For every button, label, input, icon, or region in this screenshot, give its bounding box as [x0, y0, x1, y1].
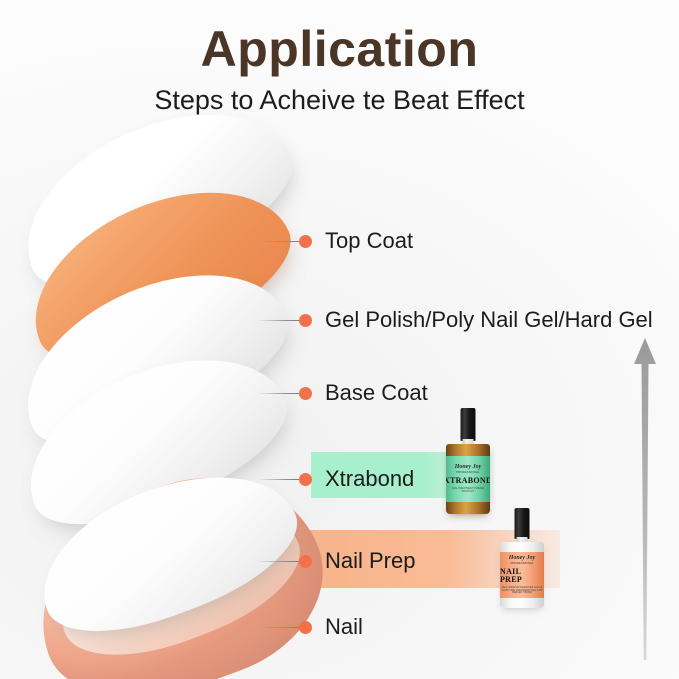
connector-line	[258, 320, 300, 321]
connector-line	[258, 393, 300, 394]
product-fineprint: DEHYDRATOR REMOVES OILS & MOISTURE PREPA…	[500, 587, 544, 596]
connector-line	[258, 479, 300, 480]
order-arrow-up-icon	[632, 338, 658, 660]
bottle-label: Honey Joy PROFESSIONAL XTRABOND NAIL TRE…	[446, 456, 490, 502]
callout-label-nail: Nail	[325, 616, 363, 638]
product-name: XTRABOND	[446, 477, 490, 485]
connector-line	[258, 241, 300, 242]
application-infographic: Application Steps to Acheive te Beat Eff…	[0, 0, 679, 679]
brand-name: Honey Joy	[509, 555, 536, 561]
connector-line	[258, 561, 300, 562]
bullet-dot-icon	[299, 555, 312, 568]
bottle-label: Honey Joy PROFESSIONAL NAIL PREP DEHYDRA…	[500, 552, 544, 598]
bottle-cap	[461, 408, 476, 441]
connector-line	[258, 627, 300, 628]
brand-tagline: PROFESSIONAL	[456, 471, 479, 474]
callout-label-xtrabond: Xtrabond	[325, 468, 414, 490]
callout-label-gel-polish: Gel Polish/Poly Nail Gel/Hard Gel	[325, 309, 653, 331]
product-name: NAIL PREP	[500, 568, 544, 584]
product-bottle-xtrabond: Honey Joy PROFESSIONAL XTRABOND NAIL TRE…	[446, 408, 490, 514]
nail-layer-stack	[0, 0, 340, 679]
product-bottle-nail-prep: Honey Joy PROFESSIONAL NAIL PREP DEHYDRA…	[500, 508, 544, 608]
bullet-dot-icon	[299, 314, 312, 327]
bullet-dot-icon	[299, 473, 312, 486]
bullet-dot-icon	[299, 235, 312, 248]
product-fineprint: NAIL TREATMENT PRIMER PRODUCT	[446, 488, 490, 494]
bottle-body: Honey Joy PROFESSIONAL NAIL PREP DEHYDRA…	[500, 542, 544, 608]
bullet-dot-icon	[299, 621, 312, 634]
bottle-cap	[515, 508, 530, 539]
bottle-body: Honey Joy PROFESSIONAL XTRABOND NAIL TRE…	[446, 444, 490, 514]
callout-label-base-coat: Base Coat	[325, 382, 428, 404]
callout-label-nail-prep: Nail Prep	[325, 550, 415, 572]
callout-label-top-coat: Top Coat	[325, 230, 413, 252]
bullet-dot-icon	[299, 387, 312, 400]
brand-tagline: PROFESSIONAL	[510, 562, 533, 565]
